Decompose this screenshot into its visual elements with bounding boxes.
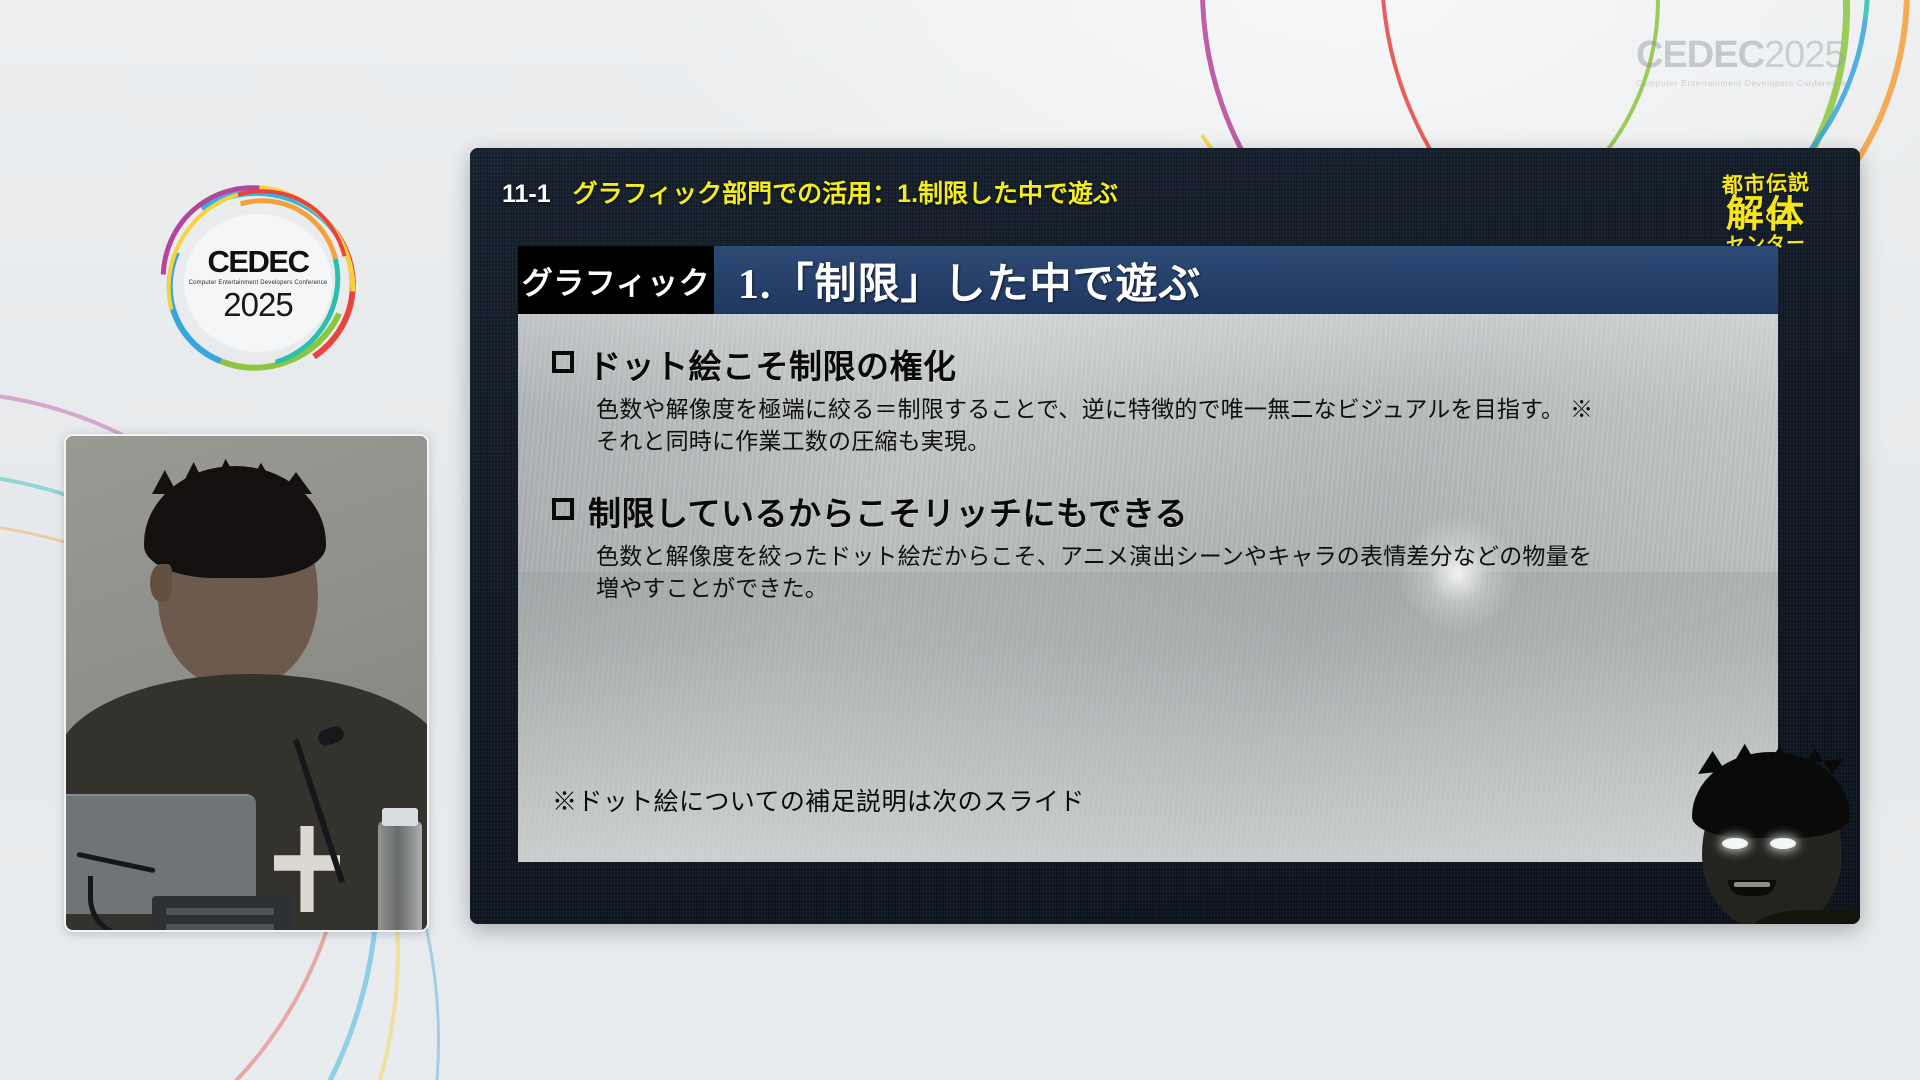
speaker-video-panel [64, 434, 429, 932]
bottle-cap [382, 808, 418, 826]
cedec-logo-subtitle: Computer Entertainment Developers Confer… [189, 280, 328, 286]
slide-header-text: 11-1グラフィック部門での活用：1.制限した中で遊ぶ [502, 174, 1118, 210]
presentation-stage: CEDEC2025 Computer Entertainment Develop… [0, 0, 1920, 1080]
bullet-item: ドット絵こそ制限の権化 [552, 340, 1744, 388]
slide-title-band: グラフィック 1.「制限」した中で遊ぶ [518, 246, 1778, 314]
speaker-ear [150, 564, 172, 602]
bullet-description: 色数と解像度を絞ったドット絵だからこそ、アニメ演出シーンやキャラの表情差分などの… [596, 541, 1626, 604]
slide-title-heading: 1.「制限」した中で遊ぶ [714, 246, 1778, 314]
checkbox-square-icon [552, 351, 574, 373]
slide-body-content: ドット絵こそ制限の権化 色数や解像度を極端に絞る＝制限することで、逆に特徴的で唯… [518, 314, 1778, 862]
cable [88, 876, 158, 932]
bullet-item: 制限しているからこそリッチにもできる [552, 487, 1744, 535]
slide-section-number: 11-1 [502, 180, 551, 208]
cedec-logo-year: 2025 [223, 288, 292, 321]
water-bottle [378, 821, 422, 932]
bullet-heading: 制限しているからこそリッチにもできる [588, 487, 1188, 535]
spacer [552, 457, 1744, 487]
character-eye-right [1770, 838, 1796, 849]
slide-footnote: ※ドット絵についての補足説明は次のスライド [552, 782, 1085, 818]
cedec-wordmark-subtitle: Computer Entertainment Developers Confer… [1636, 78, 1886, 88]
logo-inner-disc: CEDEC Computer Entertainment Developers … [184, 214, 332, 352]
cedec-wordmark-year: 2025 [1764, 34, 1845, 76]
cedec-wordmark-text: CEDEC2025 [1636, 36, 1886, 74]
podium-device [152, 896, 292, 932]
eye-icon [1766, 210, 1792, 224]
character-face-overlay [1680, 734, 1860, 924]
device-row [166, 908, 274, 915]
character-eye-left [1722, 838, 1748, 849]
slide-body-panel: ドット絵こそ制限の権化 色数や解像度を極端に絞る＝制限することで、逆に特徴的で唯… [518, 314, 1778, 862]
character-hair [1692, 752, 1850, 838]
bullet-description: 色数や解像度を極端に絞る＝制限することで、逆に特徴的で唯一無二なビジュアルを目指… [596, 394, 1626, 457]
cedec-logo-name: CEDEC [207, 246, 308, 277]
speaker-hair [144, 466, 326, 578]
slide-header: 11-1グラフィック部門での活用：1.制限した中で遊ぶ [470, 148, 1860, 244]
toshidensetsu-logo: 都市伝説 解体 センター [1706, 174, 1826, 254]
slide-section-title: グラフィック部門での活用：1.制限した中で遊ぶ [573, 180, 1118, 208]
bullet-heading: ドット絵こそ制限の権化 [588, 340, 957, 388]
cedec-wordmark-logo: CEDEC2025 Computer Entertainment Develop… [1636, 36, 1886, 88]
device-row [166, 924, 274, 931]
slide-title-category-tag: グラフィック [518, 246, 714, 314]
checkbox-square-icon [552, 498, 574, 520]
cedec-circle-logo: CEDEC Computer Entertainment Developers … [158, 188, 358, 378]
slide-container: 11-1グラフィック部門での活用：1.制限した中で遊ぶ 都市伝説 解体 センター… [470, 148, 1860, 924]
cedec-wordmark-name: CEDEC [1636, 34, 1764, 76]
